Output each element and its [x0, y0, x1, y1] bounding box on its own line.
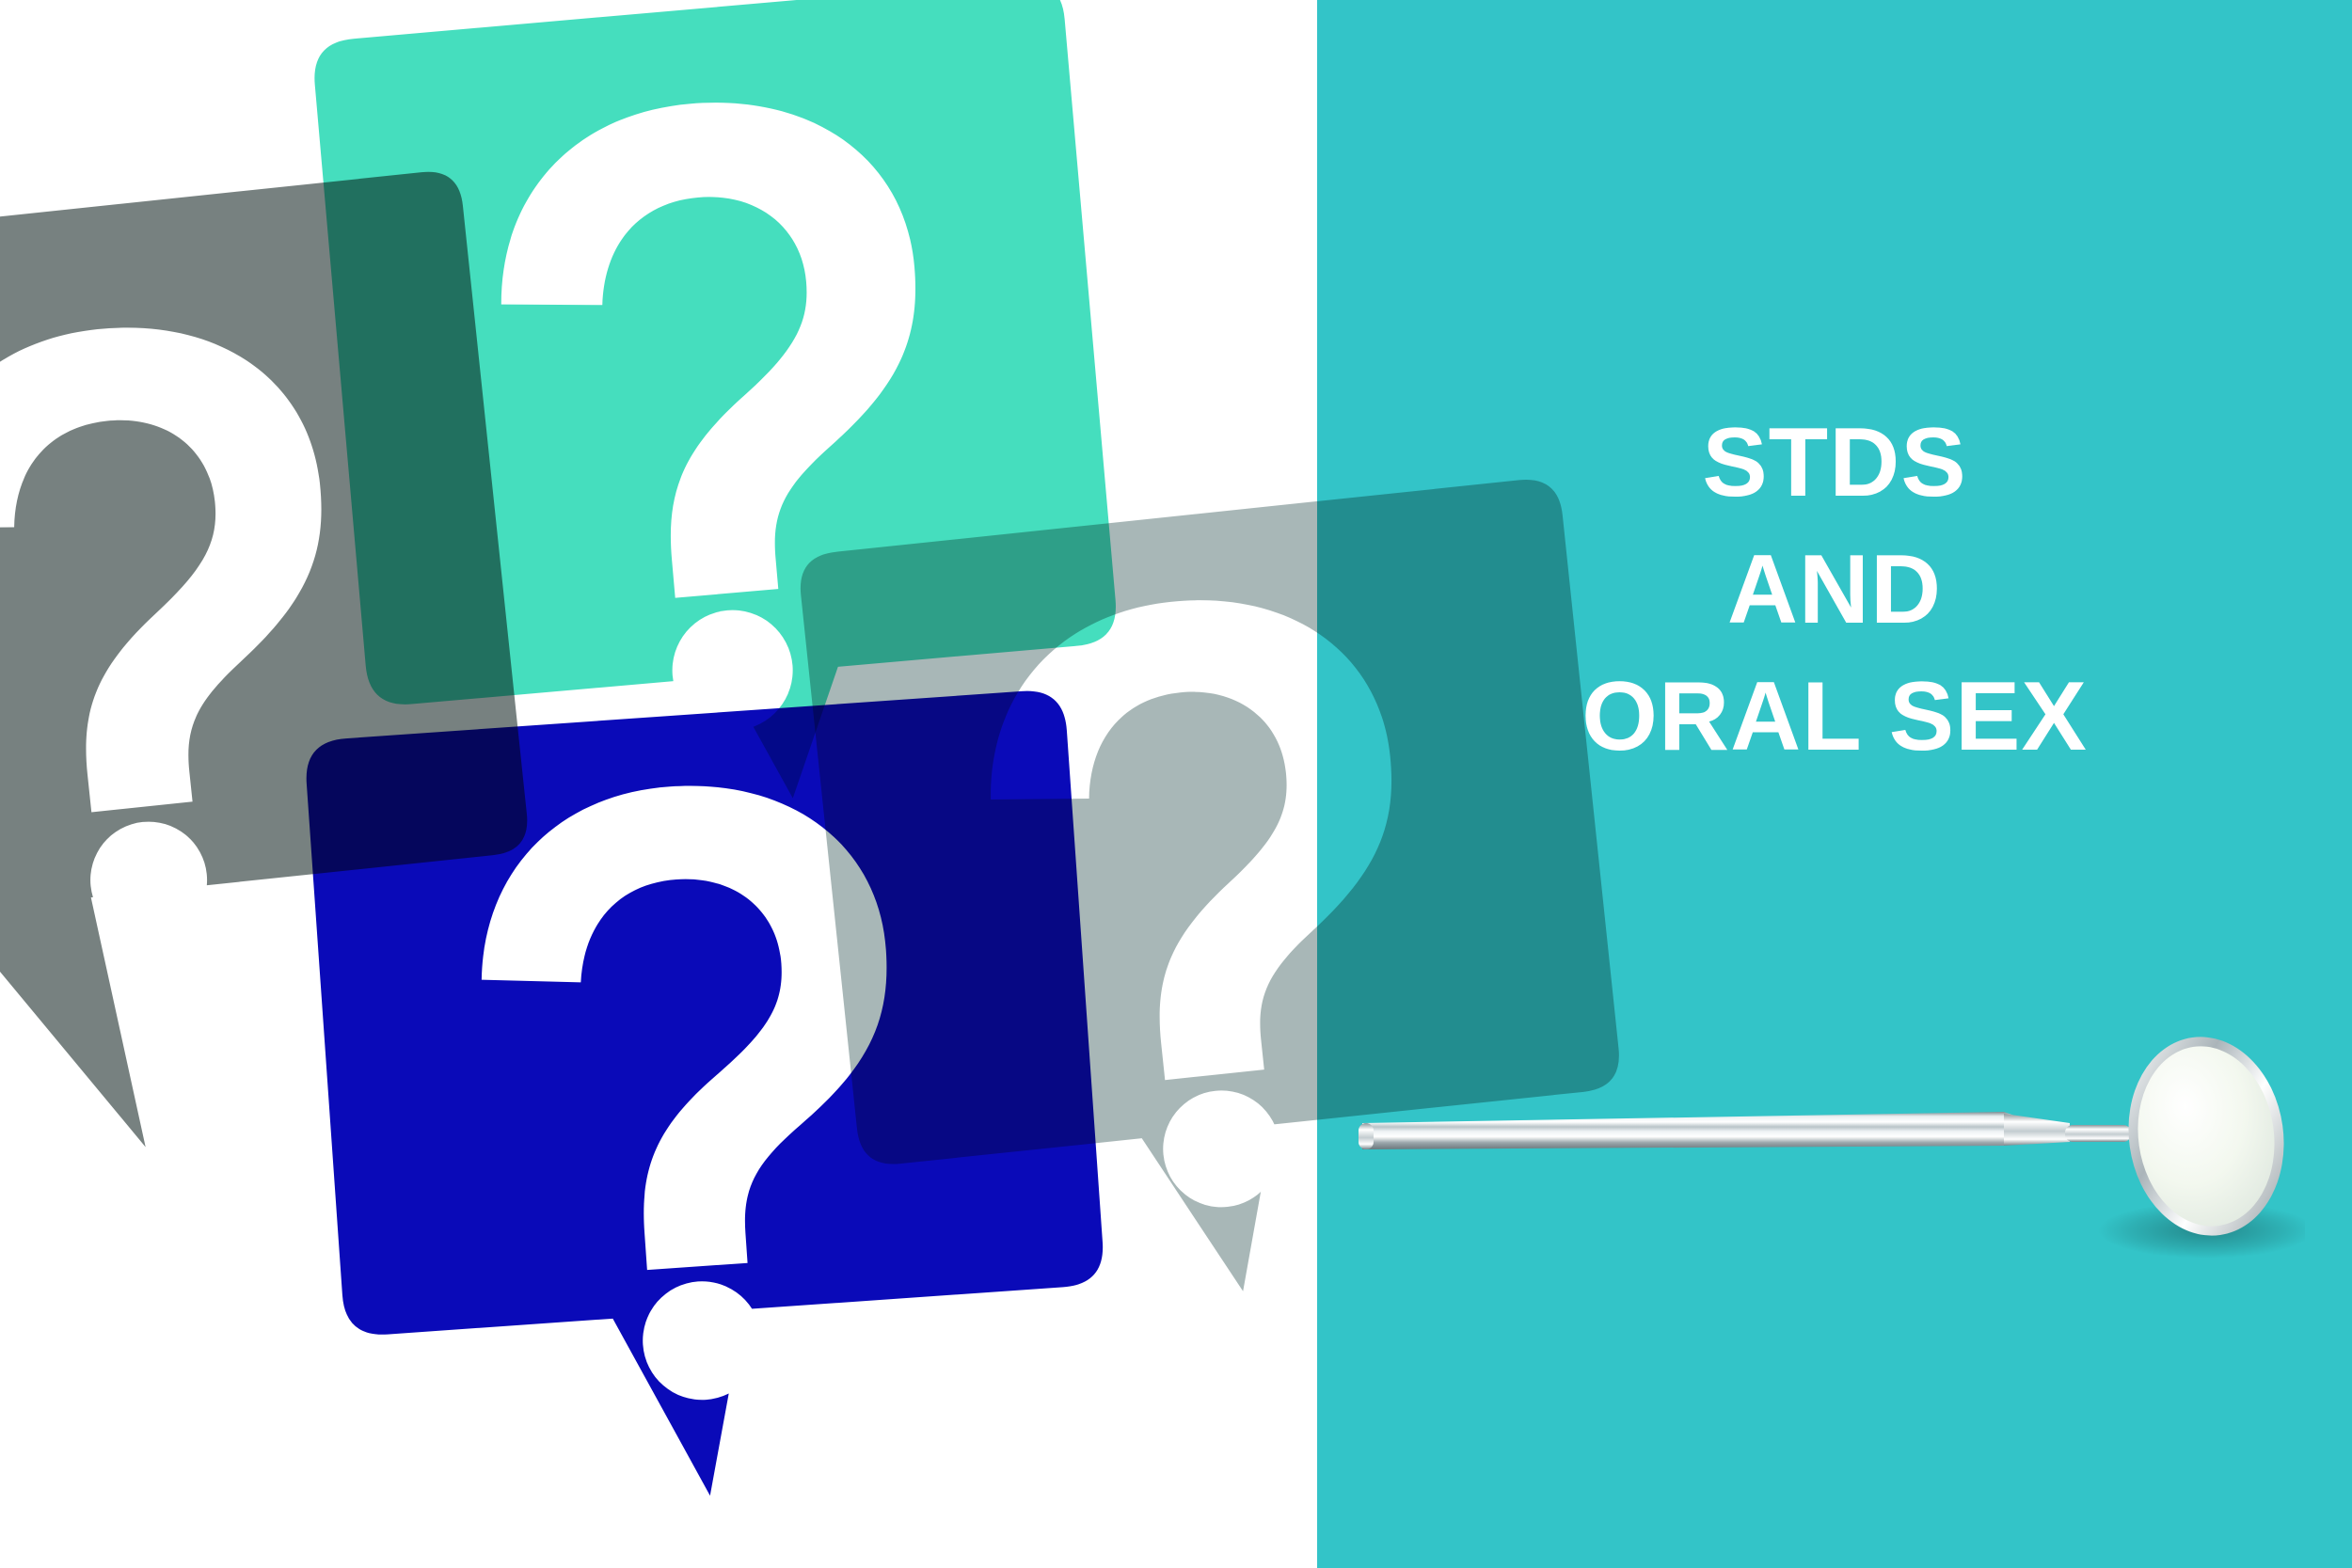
speech-bubble-blue-shape	[282, 649, 1242, 1568]
title-line-3: ORAL SEX	[1317, 654, 2352, 781]
mirror-handle	[1362, 1112, 2051, 1149]
page-title: STDS AND ORAL SEX	[1317, 400, 2352, 782]
title-line-1: STDS	[1317, 400, 2352, 527]
dental-mirror-illustration	[1355, 1025, 2305, 1298]
handle-taper	[2004, 1114, 2070, 1146]
dental-mirror-tool	[1355, 1025, 2305, 1298]
title-line-2: AND	[1317, 527, 2352, 654]
handle-end-cap	[1359, 1123, 1374, 1149]
speech-bubble-blue	[282, 649, 1242, 1568]
poster-canvas: STDS AND ORAL SEX	[0, 0, 2352, 1568]
mirror-shaft	[2065, 1125, 2131, 1142]
